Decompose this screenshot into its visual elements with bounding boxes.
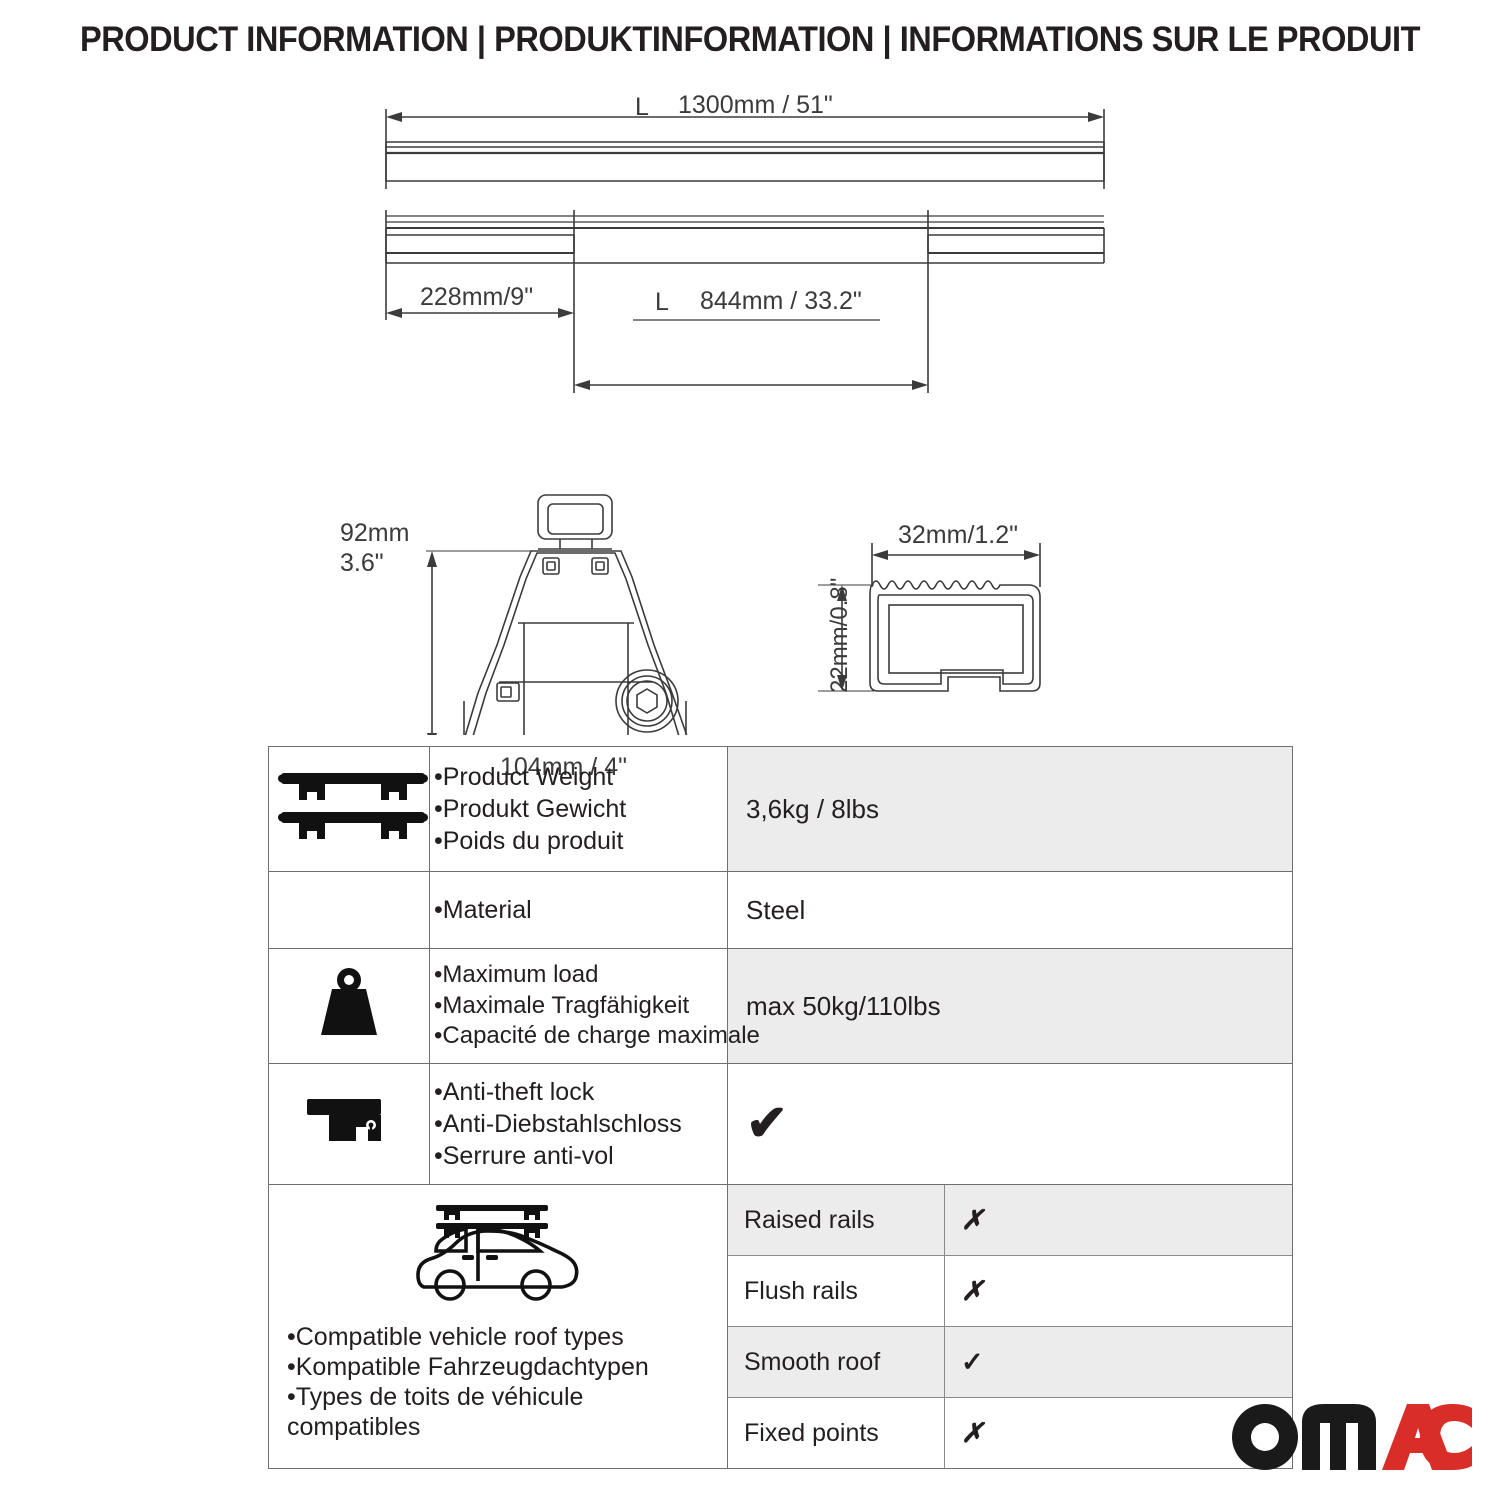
table-row: •Material Steel: [269, 872, 1293, 949]
label-line: compatibles: [287, 1412, 727, 1442]
label-line: •Types de toits de véhicule: [287, 1382, 727, 1412]
material-value: Steel: [746, 895, 805, 925]
anti-theft-icon-cell: [269, 1064, 430, 1185]
max-load-labels: •Maximum load •Maximale Tragfähigkeit •C…: [430, 949, 728, 1064]
roof-type-row: Raised rails ✗: [728, 1185, 1292, 1256]
spread-value: 844mm / 33.2": [700, 287, 862, 316]
roof-types-subtable: Raised rails ✗ Flush rails ✗ Smooth roof…: [728, 1185, 1292, 1468]
roof-type-name: Raised rails: [728, 1185, 945, 1256]
two-crossbars-icon: [273, 765, 433, 847]
table-row: •Compatible vehicle roof types •Kompatib…: [269, 1185, 1293, 1469]
label-line: •Anti-Diebstahlschloss: [434, 1108, 727, 1140]
bar-length-prefix: L: [635, 93, 649, 122]
label-line: •Maximale Tragfähigkeit: [434, 991, 727, 1022]
label-line: •Maximum load: [434, 960, 727, 991]
roof-type-mark: ✗: [945, 1256, 1293, 1327]
anti-theft-check-icon: ✔: [746, 1101, 788, 1146]
material-labels: •Material: [430, 872, 728, 949]
spread-prefix: L: [655, 288, 669, 317]
logo-letter-m: [1302, 1404, 1376, 1470]
car-with-roof-bars-icon: [404, 1193, 592, 1309]
specification-table: •Product Weight •Produkt Gewicht •Poids …: [268, 746, 1293, 1469]
product-information-sheet: PRODUCT INFORMATION | PRODUKTINFORMATION…: [0, 0, 1500, 1500]
product-weight-value-cell: 3,6kg / 8lbs: [728, 747, 1293, 872]
roof-type-row: Smooth roof ✓: [728, 1327, 1292, 1398]
material-icon-cell: [269, 872, 430, 949]
label-line: •Anti-theft lock: [434, 1076, 727, 1108]
label-line: •Compatible vehicle roof types: [287, 1322, 727, 1352]
logo-letter-c: [1420, 1404, 1472, 1470]
roof-type-name: Fixed points: [728, 1398, 945, 1469]
page-title: PRODUCT INFORMATION | PRODUKTINFORMATION…: [53, 20, 1448, 60]
max-load-value-cell: max 50kg/110lbs: [728, 949, 1293, 1064]
compatible-roof-types-labels-cell: •Compatible vehicle roof types •Kompatib…: [269, 1185, 728, 1469]
foot-height-line2: 3.6": [340, 549, 384, 578]
table-row: •Anti-theft lock •Anti-Diebstahlschloss …: [269, 1064, 1293, 1185]
label-line: •Serrure anti-vol: [434, 1140, 727, 1172]
roof-type-mark: ✓: [945, 1327, 1293, 1398]
material-value-cell: Steel: [728, 872, 1293, 949]
product-weight-labels: •Product Weight •Produkt Gewicht •Poids …: [430, 747, 728, 872]
logo-letter-o: [1232, 1404, 1298, 1470]
table-row: •Maximum load •Maximale Tragfähigkeit •C…: [269, 949, 1293, 1064]
label-line: •Capacité de charge maximale: [434, 1021, 727, 1052]
max-load-value: max 50kg/110lbs: [746, 991, 941, 1021]
roof-type-row: Flush rails ✗: [728, 1256, 1292, 1327]
bar-lock-icon: [303, 1091, 395, 1151]
bar-length-value: 1300mm / 51": [678, 91, 833, 120]
label-line: •Product Weight: [434, 761, 727, 793]
roof-type-mark: ✗: [945, 1185, 1293, 1256]
foot-height-line1: 92mm: [340, 519, 409, 548]
compatible-roof-types-bullets: •Compatible vehicle roof types •Kompatib…: [269, 1322, 727, 1442]
foot-offset-dimension: 228mm/9": [420, 283, 533, 312]
omac-logo: [1232, 1404, 1472, 1470]
anti-theft-value-cell: ✔: [728, 1064, 1293, 1185]
profile-width-dimension: 32mm/1.2": [898, 521, 1018, 550]
roof-type-row: Fixed points ✗: [728, 1398, 1292, 1469]
label-line: •Poids du produit: [434, 825, 727, 857]
label-line: •Material: [434, 894, 727, 926]
crossbars-icon-cell: [269, 747, 430, 872]
label-line: •Kompatible Fahrzeugdachtypen: [287, 1352, 727, 1382]
roof-types-subtable-cell: Raised rails ✗ Flush rails ✗ Smooth roof…: [728, 1185, 1293, 1469]
product-weight-value: 3,6kg / 8lbs: [746, 794, 879, 824]
technical-drawing-area: L 1300mm / 51" 228mm/9" L 844mm / 33.2" …: [0, 85, 1500, 735]
roof-type-name: Flush rails: [728, 1256, 945, 1327]
label-line: •Produkt Gewicht: [434, 793, 727, 825]
omac-logo-svg: [1232, 1404, 1472, 1470]
dimension-drawings-svg: [0, 85, 1500, 735]
profile-height-dimension: 22mm/0.8": [826, 578, 854, 693]
table-row: •Product Weight •Produkt Gewicht •Poids …: [269, 747, 1293, 872]
anti-theft-labels: •Anti-theft lock •Anti-Diebstahlschloss …: [430, 1064, 728, 1185]
roof-type-name: Smooth roof: [728, 1327, 945, 1398]
weight-icon: [314, 965, 384, 1041]
max-load-icon-cell: [269, 949, 430, 1064]
